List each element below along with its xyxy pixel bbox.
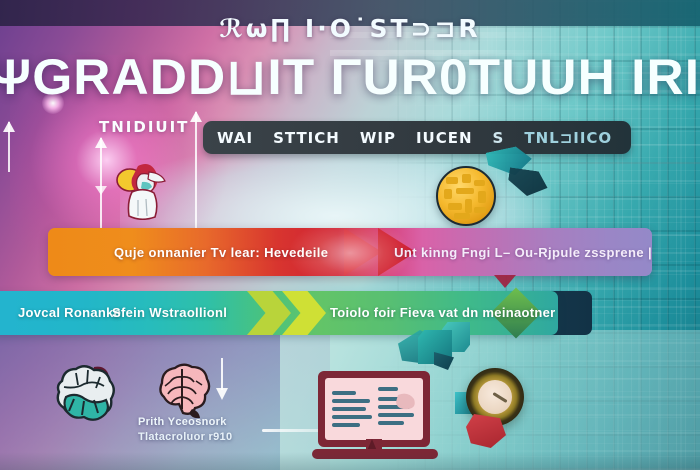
- up-arrow-icon-mid: [189, 112, 203, 232]
- caption-line-2: Tlatacroluor r910: [138, 430, 232, 445]
- nav-item-2[interactable]: STTICH: [273, 129, 340, 147]
- nav-item-4[interactable]: IUCEN: [416, 129, 473, 147]
- band-green-segment-2[interactable]: Sfein Wstraollionl: [112, 304, 282, 322]
- nav-item-3[interactable]: WIP: [360, 129, 396, 147]
- infographic-poster: ℛѡ∏ I·O˙ST⊃⊐R ΨGRADD⊔IT ΓUR0TUUH IRIC⊻I …: [0, 0, 700, 470]
- page-title: ΨGRADD⊔IT ΓUR0TUUH IRIC⊻I: [0, 48, 700, 106]
- band-green-item-2: Sfein Wstraollionl: [112, 305, 227, 320]
- down-arrow-icon: [216, 358, 228, 402]
- process-band-orange[interactable]: Quje onnanier Tv lear: Hevedeile Unt kin…: [48, 228, 652, 276]
- band-orange-right-text: Unt kinng Fngi L– Ou-Rjpule zssprene |: [394, 245, 652, 260]
- navigation-bar[interactable]: WAI STTICH WIP IUCEN S TNL⊐IICO: [203, 121, 631, 154]
- up-arrow-icon-edge: [2, 122, 16, 172]
- bottom-shadow: [0, 452, 700, 470]
- person-figure-icon: [108, 152, 170, 220]
- down-arrow-notch-icon: [494, 275, 516, 288]
- band-green-item-1: Jovcal Ronanke: [18, 305, 121, 320]
- band-orange-segment-right[interactable]: Unt kinng Fngi L– Ou-Rjpule zssprene |: [370, 228, 652, 276]
- brain-icon-teal: [48, 363, 122, 431]
- caption-line-1: Prith Yceosnork: [138, 415, 232, 430]
- nav-item-5[interactable]: S: [493, 129, 505, 147]
- band-orange-segment-left[interactable]: Quje onnanier Tv lear: Hevedeile: [48, 228, 370, 276]
- band-green-segment-1[interactable]: Jovcal Ronanke: [0, 304, 112, 322]
- band-orange-left-text: Quje onnanier Tv lear: Hevedeile: [114, 245, 328, 260]
- coffee-cup-inner: [478, 380, 512, 414]
- up-arrow-icon-left: [94, 138, 108, 230]
- caption-block: Prith Yceosnork Tlatacroluor r910: [138, 415, 232, 445]
- band-green-item-3: Toiolo foir Fieva vat dn meinaotner: [330, 305, 556, 320]
- maze-circle-icon: [436, 166, 496, 226]
- nav-item-1[interactable]: WAI: [217, 129, 253, 147]
- top-left-tag-label: TNIDIUIT: [99, 118, 189, 136]
- process-band-green[interactable]: Jovcal Ronanke Sfein Wstraollionl Toiolo…: [0, 291, 558, 335]
- poster-subtitle: ℛѡ∏ I·O˙ST⊃⊐R: [0, 14, 700, 43]
- nav-item-6[interactable]: TNL⊐IICO: [524, 129, 612, 147]
- brain-icon-pink: [152, 361, 214, 423]
